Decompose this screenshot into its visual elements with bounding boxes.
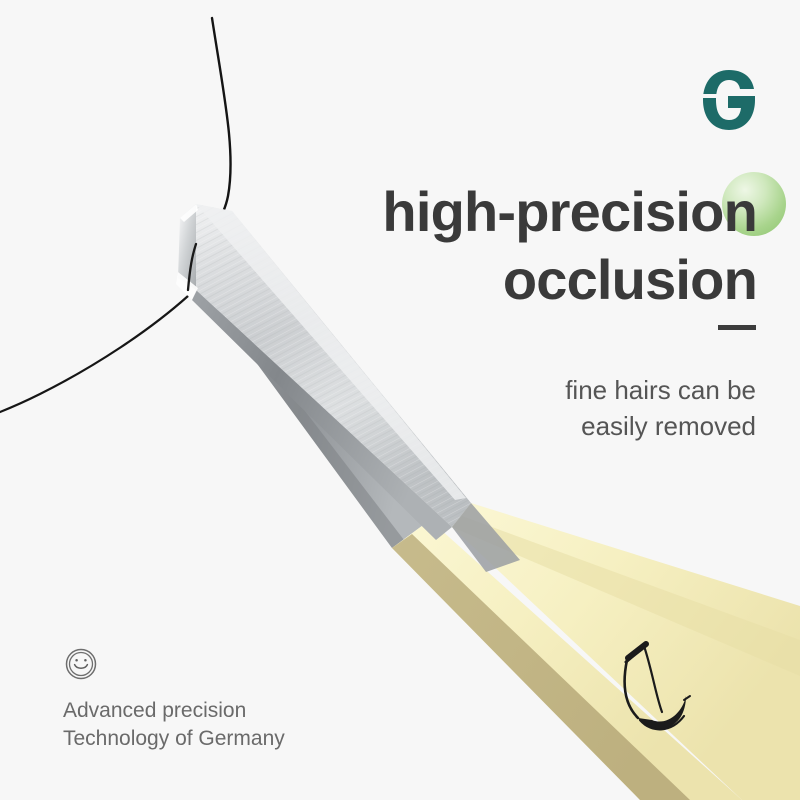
- brand-logo-g: [697, 68, 761, 132]
- product-marketing-image: high-precision occlusion fine hairs can …: [0, 0, 800, 800]
- footer-badge: Advanced precision Technology of Germany: [63, 645, 285, 753]
- headline-divider: [718, 325, 756, 330]
- headline-line-1: high-precision: [237, 178, 757, 246]
- subheading-line-1: fine hairs can be: [336, 372, 756, 408]
- footer-line-2: Technology of Germany: [63, 725, 285, 753]
- headline-line-2: occlusion: [237, 246, 757, 314]
- footer-line-1: Advanced precision: [63, 697, 285, 725]
- footer-tagline: Advanced precision Technology of Germany: [63, 697, 285, 753]
- smiley-face-icon: [63, 645, 99, 681]
- subheading-line-2: easily removed: [336, 408, 756, 444]
- subheading: fine hairs can be easily removed: [336, 372, 756, 444]
- page-title: high-precision occlusion: [237, 178, 757, 314]
